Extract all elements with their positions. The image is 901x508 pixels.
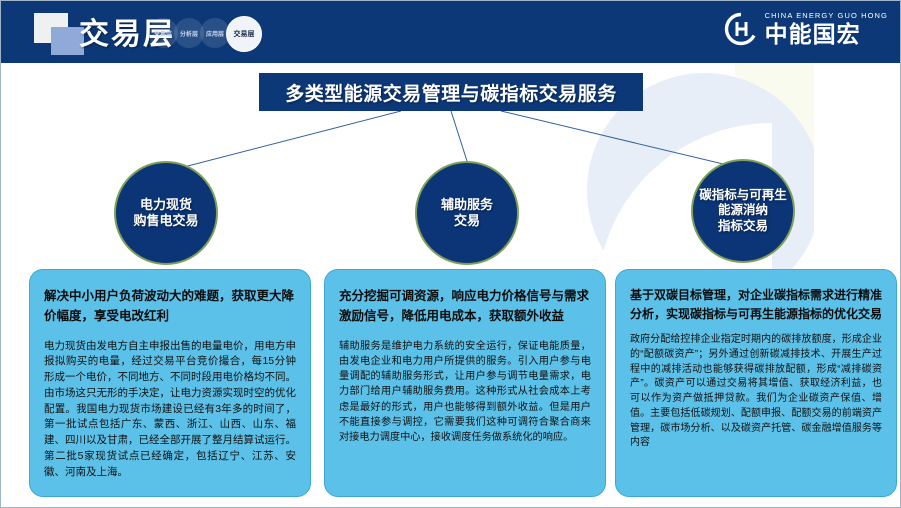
panel-carbon-body: 政府分配给控排企业指定时期内的碳排放额度，形成企业的“配额碳资产”；另外通过创新… [630,333,882,451]
node-ancillary-line-2: 交易 [454,213,480,228]
brand-text: CHINA ENERGY GUO HONG 中能国宏 [765,12,888,46]
node-ancillary-service[interactable]: 辅助服务 交易 [415,161,519,265]
node-carbon-line-3: 指标交易 [718,219,768,233]
main-title-banner: 多类型能源交易管理与碳指标交易服务 [259,73,643,111]
node-power-spot-label: 电力现货 购售电交易 [133,197,198,230]
main-title-text: 多类型能源交易管理与碳指标交易服务 [285,79,617,106]
node-ancillary-line-1: 辅助服务 [441,197,493,212]
panel-ancillary-heading: 充分挖掘可调资源，响应电力价格信号与需求激励信号，降低用电成本，获取额外收益 [339,286,591,327]
chip-transaction-layer[interactable]: 交易层 [226,16,262,52]
chip-application-layer-label: 应用层 [206,29,224,38]
brand-english-name: CHINA ENERGY GUO HONG [765,12,888,20]
brand-mark-icon [724,12,758,46]
node-carbon-index[interactable]: 碳指标与可再生 能源消纳 指标交易 [691,159,795,263]
panel-power-spot-heading: 解决中小用户负荷波动大的难题，获取更大降价幅度，享受电改红利 [44,286,296,327]
panel-power-spot-body: 电力现货由发电方自主申报出售的电量电价，用电方申报拟购买的电量，经过交易平台竞价… [44,339,296,481]
panel-carbon-index: 基于双碳目标管理，对企业碳指标需求进行精准分析，实现碳指标与可再生能源指标的优化… [615,269,897,497]
slide-canvas: 交易层 采集层 分析层 应用层 交易层 CHINA [0,0,901,508]
chip-transaction-layer-label: 交易层 [234,29,255,39]
panel-ancillary-service: 充分挖掘可调资源，响应电力价格信号与需求激励信号，降低用电成本，获取额外收益 辅… [324,269,606,497]
node-power-spot[interactable]: 电力现货 购售电交易 [114,161,218,265]
brand-chinese-name: 中能国宏 [765,23,888,46]
node-carbon-line-2: 能源消纳 [718,203,768,217]
node-carbon-line-1: 碳指标与可再生 [699,188,787,202]
node-power-spot-line-1: 电力现货 [140,197,192,212]
panel-carbon-heading: 基于双碳目标管理，对企业碳指标需求进行精准分析，实现碳指标与可再生能源指标的优化… [630,286,882,324]
header-bar: 交易层 采集层 分析层 应用层 交易层 CHINA [1,1,901,63]
brand-logo: CHINA ENERGY GUO HONG 中能国宏 [724,12,888,46]
panel-power-spot: 解决中小用户负荷波动大的难题，获取更大降价幅度，享受电改红利 电力现货由发电方自… [29,269,311,497]
chip-collection-layer-label: 采集层 [154,29,172,38]
node-power-spot-line-2: 购售电交易 [133,213,198,228]
chip-analysis-layer-label: 分析层 [180,29,198,38]
panel-ancillary-body: 辅助服务是维护电力系统的安全运行，保证电能质量，由发电企业和电力用户所提供的服务… [339,339,591,446]
node-ancillary-service-label: 辅助服务 交易 [441,197,493,230]
node-carbon-index-label: 碳指标与可再生 能源消纳 指标交易 [699,188,787,235]
